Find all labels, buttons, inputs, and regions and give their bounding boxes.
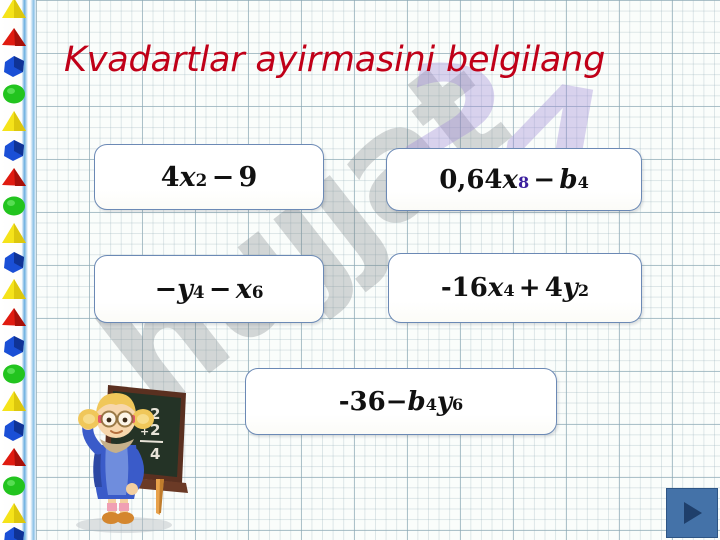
yellow-pyramid-icon — [1, 0, 27, 22]
answer-option-3[interactable]: −y4−x6 — [94, 255, 324, 323]
answer-option-1[interactable]: 4x2−9 — [94, 144, 324, 210]
next-slide-button[interactable] — [666, 488, 718, 538]
term2-variable-2: b — [559, 165, 577, 195]
yellow-pyramid-icon — [1, 389, 27, 415]
green-sphere-icon — [1, 81, 27, 107]
operator-5: − — [386, 387, 408, 417]
red-pyramid-icon — [1, 305, 27, 331]
play-triangle-icon — [677, 498, 707, 528]
term2-coefficient-4: 4 — [545, 273, 563, 303]
blue-cube-icon — [1, 137, 27, 163]
answer-option-5[interactable]: -36−b4y6 — [245, 368, 557, 435]
left-decorative-ribbon — [0, 0, 36, 540]
blue-cube-icon — [1, 524, 27, 540]
operator-4: + — [515, 273, 545, 303]
coefficient-1: 4 — [161, 162, 180, 193]
term2-1: 9 — [239, 162, 258, 193]
blue-cube-icon — [1, 53, 27, 79]
formula-4: -16x4+4y2 — [441, 273, 589, 303]
variable-2: x — [503, 165, 519, 195]
answer-option-2[interactable]: 0,64x8−b4 — [386, 148, 642, 211]
formula-1: 4x2−9 — [161, 162, 258, 193]
yellow-pyramid-icon — [1, 277, 27, 303]
green-sphere-icon — [1, 361, 27, 387]
leading-sign-3: − — [155, 274, 178, 305]
coefficient-5: -36 — [339, 387, 386, 417]
term2-variable-4: y — [563, 273, 578, 303]
schoolgirl-illustration: 2 + 2 4 — [64, 375, 200, 535]
svg-text:4: 4 — [150, 445, 160, 463]
red-pyramid-icon — [1, 25, 27, 51]
presentation-slide: hujjat 24 Kvadartlar ayirmasini belgilan… — [0, 0, 720, 540]
term2-variable-5: b — [408, 387, 426, 417]
green-sphere-icon — [1, 193, 27, 219]
formula-5: -36−b4y6 — [339, 387, 464, 417]
formula-2: 0,64x8−b4 — [439, 165, 589, 195]
answer-option-4[interactable]: -16x4+4y2 — [388, 253, 642, 323]
red-pyramid-icon — [1, 165, 27, 191]
coefficient-4: -16 — [441, 273, 488, 303]
red-pyramid-icon — [1, 445, 27, 471]
blue-cube-icon — [1, 417, 27, 443]
operator-2: − — [529, 165, 559, 195]
variable-1: x — [179, 162, 195, 193]
variable-4: x — [488, 273, 504, 303]
coefficient-2: 0,64 — [439, 165, 502, 195]
formula-3: −y4−x6 — [155, 274, 264, 305]
variable-3: y — [177, 274, 193, 305]
yellow-pyramid-icon — [1, 221, 27, 247]
term2-variable-3: x — [236, 274, 252, 305]
yellow-pyramid-icon — [1, 109, 27, 135]
blue-cube-icon — [1, 333, 27, 359]
page-title: Kvadartlar ayirmasini belgilang — [64, 40, 664, 80]
blue-cube-icon — [1, 249, 27, 275]
term3-variable-5: y — [437, 387, 452, 417]
operator-3: − — [204, 274, 235, 305]
operator-1: − — [207, 162, 238, 193]
green-sphere-icon — [1, 473, 27, 499]
